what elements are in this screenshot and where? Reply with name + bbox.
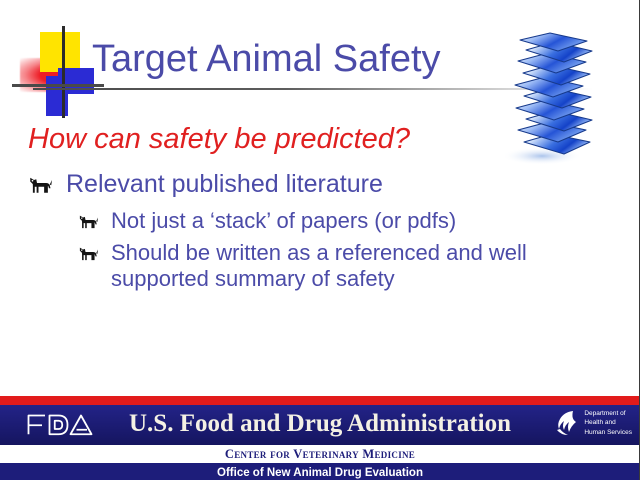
bullet-label: Relevant published literature — [66, 170, 383, 199]
dog-bullet-icon — [78, 215, 98, 230]
slide-canvas: Target Animal Safety — [0, 0, 640, 480]
bullet-label: Not just a ‘stack’ of papers (or pdfs) — [111, 208, 456, 234]
slide-footer: U.S. Food and Drug Administration Depart… — [0, 396, 640, 480]
yellow-square-shape — [40, 32, 80, 72]
bullet-label: Should be written as a referenced and we… — [111, 240, 598, 291]
stack-of-papers-image — [494, 30, 606, 170]
hhs-logo: Department of Health and Human Services — [554, 408, 632, 438]
footer-red-bar — [0, 396, 640, 405]
hhs-seal-icon — [554, 408, 580, 438]
footer-center-label: Center for Veterinary Medicine — [225, 447, 415, 461]
hhs-line-1: Department of — [584, 410, 625, 417]
footer-agency-band: U.S. Food and Drug Administration Depart… — [0, 405, 640, 445]
vertical-rule-decor — [62, 26, 65, 118]
slide-subtitle: How can safety be predicted? — [28, 123, 410, 156]
footer-agency-title: U.S. Food and Drug Administration — [0, 410, 640, 438]
dog-bullet-icon — [28, 177, 52, 195]
bullet-item-level2-b: Should be written as a referenced and we… — [78, 240, 598, 291]
dog-bullet-icon — [78, 247, 98, 262]
page-title: Target Animal Safety — [92, 38, 441, 81]
hhs-logo-text: Department of Health and Human Services — [584, 409, 632, 437]
footer-center-band: Center for Veterinary Medicine — [0, 445, 640, 463]
bullet-item-level2-a: Not just a ‘stack’ of papers (or pdfs) — [78, 208, 456, 234]
hhs-line-2: Health and — [584, 419, 615, 426]
footer-office-band: Office of New Animal Drug Evaluation — [0, 463, 640, 480]
hhs-line-3: Human Services — [584, 429, 632, 436]
bullet-item-level1: Relevant published literature — [28, 170, 383, 199]
footer-office-label: Office of New Animal Drug Evaluation — [217, 467, 423, 479]
horizontal-rule-decor — [12, 84, 104, 87]
